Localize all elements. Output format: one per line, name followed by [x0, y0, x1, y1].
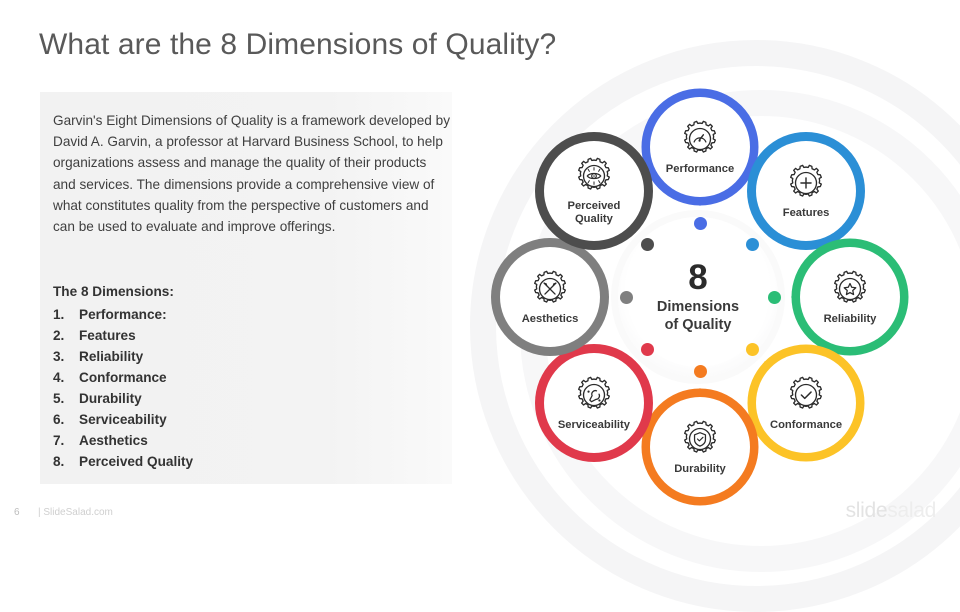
footer-site-label: | SlideSalad.com [38, 507, 113, 518]
list-item-number: 5. [53, 388, 79, 409]
petal-face: PerceivedQuality [544, 141, 644, 241]
logo-part-one: slide [846, 499, 888, 522]
list-item: 2.Features [53, 325, 353, 346]
list-item: 8.Perceived Quality [53, 451, 353, 472]
list-item-number: 6. [53, 409, 79, 430]
ring-dot-conformance [746, 343, 759, 356]
petal-features[interactable]: Features [747, 132, 865, 250]
petal-label: PerceivedQuality [567, 200, 620, 226]
hub-line-1: Dimensions [657, 298, 739, 316]
list-heading: The 8 Dimensions: [53, 284, 174, 299]
petal-label: Durability [674, 463, 726, 476]
list-item-label: Reliability [79, 346, 353, 367]
petal-label: Serviceability [558, 419, 630, 432]
gear-gauge-icon [679, 118, 721, 160]
petal-serviceability[interactable]: Serviceability [535, 344, 653, 462]
ring-dot-durability [694, 365, 707, 378]
petal-label: Features [783, 207, 830, 220]
gear-shield-icon [679, 418, 721, 460]
petal-label: Reliability [824, 313, 877, 326]
petal-label: Aesthetics [522, 313, 579, 326]
list-item-label: Perceived Quality [79, 451, 353, 472]
hub-number: 8 [688, 260, 707, 296]
list-item: 4.Conformance [53, 367, 353, 388]
list-item-number: 3. [53, 346, 79, 367]
description-paragraph: Garvin's Eight Dimensions of Quality is … [53, 110, 451, 237]
list-item: 1.Performance: [53, 304, 353, 325]
ring-dot-performance [694, 217, 707, 230]
dimensions-list: 1.Performance:2.Features3.Reliability4.C… [53, 304, 353, 472]
list-item-number: 8. [53, 451, 79, 472]
list-item: 5.Durability [53, 388, 353, 409]
slidesalad-logo: slidesalad [846, 499, 936, 523]
list-item-label: Features [79, 325, 353, 346]
petal-label: Performance [666, 163, 734, 176]
list-item: 3.Reliability [53, 346, 353, 367]
petal-face: Conformance [756, 353, 856, 453]
petal-face: Serviceability [544, 353, 644, 453]
footer-page-number: 6 [14, 507, 20, 518]
gear-star-icon [829, 268, 871, 310]
petal-conformance[interactable]: Conformance [747, 344, 865, 462]
petal-perceived-quality[interactable]: PerceivedQuality [535, 132, 653, 250]
gear-check-icon [785, 374, 827, 416]
list-item-number: 1. [53, 304, 79, 325]
gear-pencils-icon [529, 268, 571, 310]
list-item: 6.Serviceability [53, 409, 353, 430]
page-title: What are the 8 Dimensions of Quality? [39, 28, 556, 62]
list-item-label: Serviceability [79, 409, 353, 430]
gear-plus-icon [785, 162, 827, 204]
ring-dot-serviceability [641, 343, 654, 356]
hub-line-2: of Quality [665, 316, 732, 334]
petal-face: Features [756, 141, 856, 241]
list-item-label: Durability [79, 388, 353, 409]
list-item-number: 4. [53, 367, 79, 388]
list-item-number: 2. [53, 325, 79, 346]
logo-part-two: salad [887, 499, 936, 522]
list-item-label: Aesthetics [79, 430, 353, 451]
petal-label: Conformance [770, 419, 842, 432]
ring-dot-features [746, 238, 759, 251]
ring-dot-aesthetics [620, 291, 633, 304]
list-item-number: 7. [53, 430, 79, 451]
gear-wrench-icon [573, 374, 615, 416]
list-item: 7.Aesthetics [53, 430, 353, 451]
ring-dot-reliability [768, 291, 781, 304]
dimensions-diagram: 8 Dimensions of Quality PerformanceFeatu… [460, 60, 940, 520]
gear-eye-icon [573, 155, 615, 197]
petal-label-line-2: Quality [567, 213, 620, 226]
list-item-label: Performance: [79, 304, 353, 325]
list-item-label: Conformance [79, 367, 353, 388]
